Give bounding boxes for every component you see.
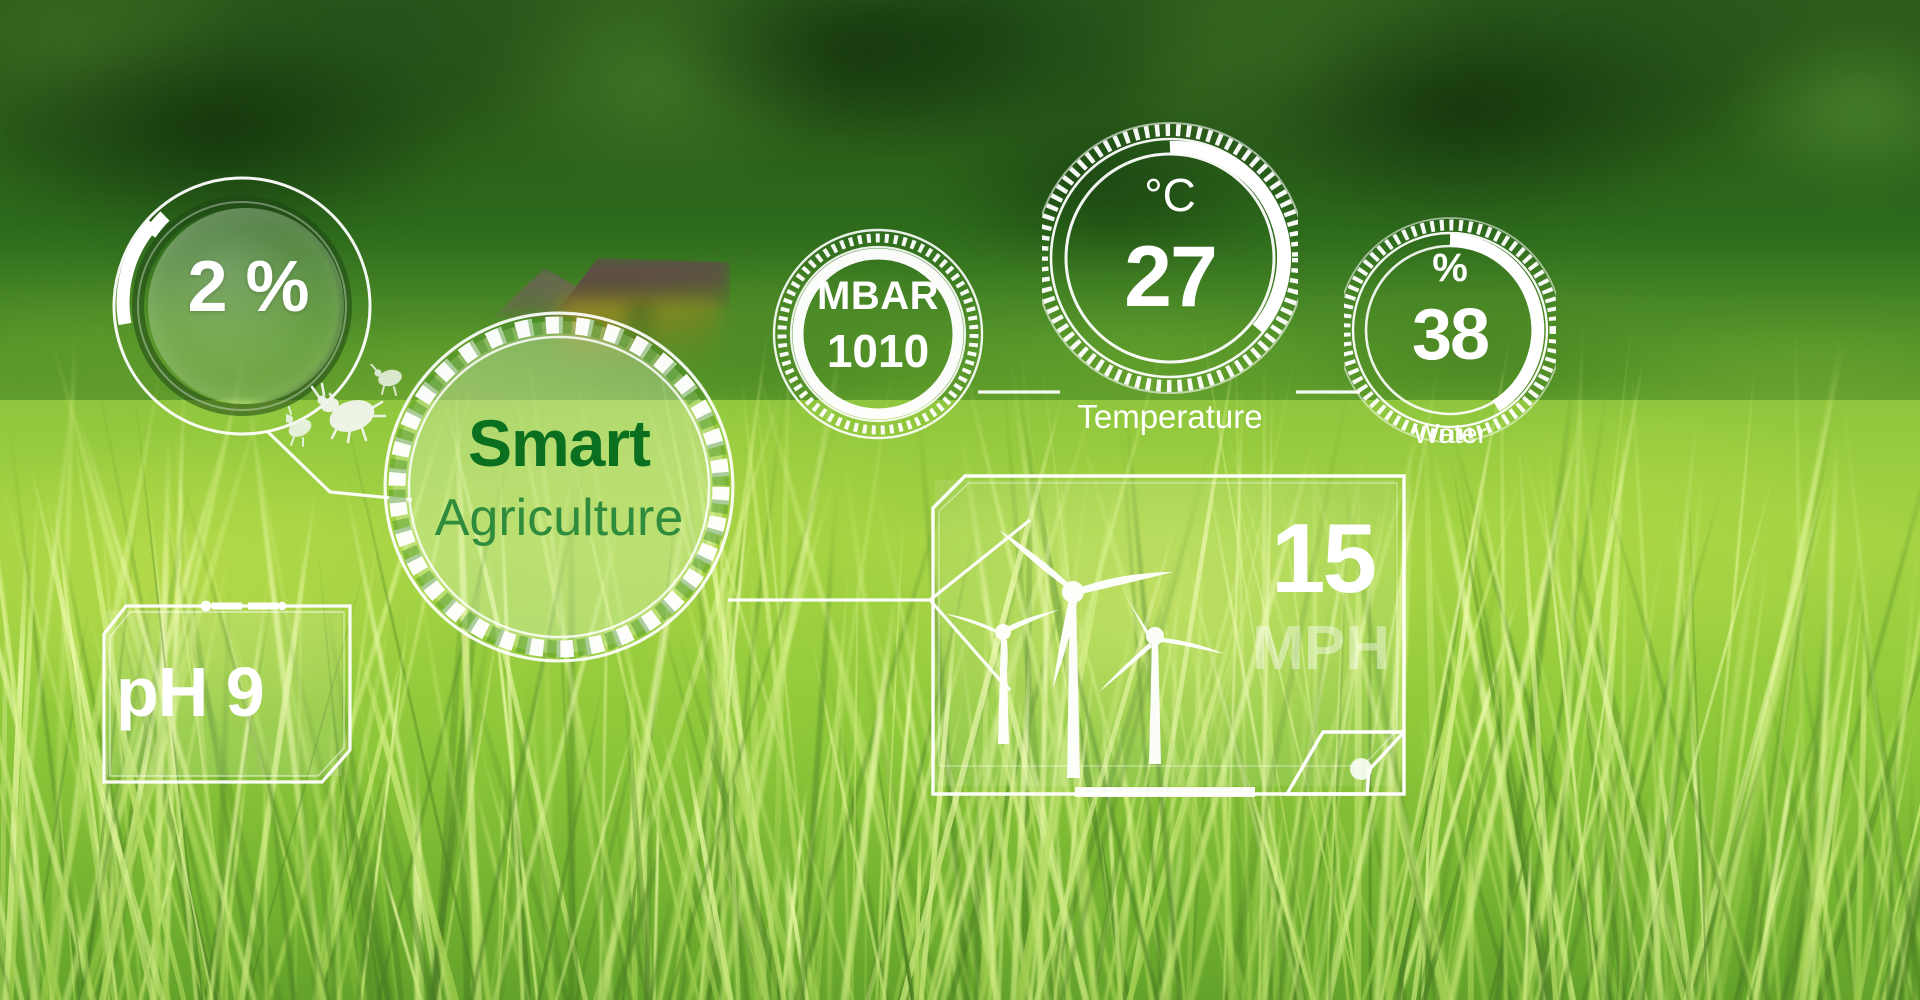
ph-panel[interactable]: pH 9	[96, 600, 356, 790]
water-label: Water	[1344, 418, 1556, 450]
water-value: 38	[1344, 294, 1556, 376]
ph-value: pH 9	[116, 652, 336, 732]
temperature-gauge[interactable]: °C 27	[1042, 118, 1298, 418]
smart-agriculture-scene: 2 %	[0, 0, 1920, 1000]
hub-rings	[378, 306, 740, 668]
wind-value: 15	[1271, 514, 1374, 602]
pressure-value: 1010	[772, 324, 984, 378]
hub-title: Smart	[378, 410, 740, 476]
temperature-label: Temperature	[1042, 398, 1298, 436]
pressure-unit: MBAR	[772, 274, 984, 319]
pest-value: 2 %	[148, 246, 348, 328]
temperature-value: 27	[1042, 228, 1298, 327]
pressure-gauge[interactable]: MBAR 1010	[772, 228, 984, 440]
water-unit: %	[1344, 246, 1556, 291]
wind-turbine-icon	[943, 506, 1243, 786]
hub-subtitle: Agriculture	[378, 492, 740, 544]
wind-unit: MPH	[1252, 618, 1390, 680]
pest-gauge[interactable]: 2 %	[108, 172, 376, 440]
smart-agriculture-hub[interactable]: Smart Agriculture	[378, 306, 740, 668]
temperature-unit: °C	[1042, 168, 1298, 222]
wind-panel[interactable]: 15 MPH	[925, 470, 1410, 800]
